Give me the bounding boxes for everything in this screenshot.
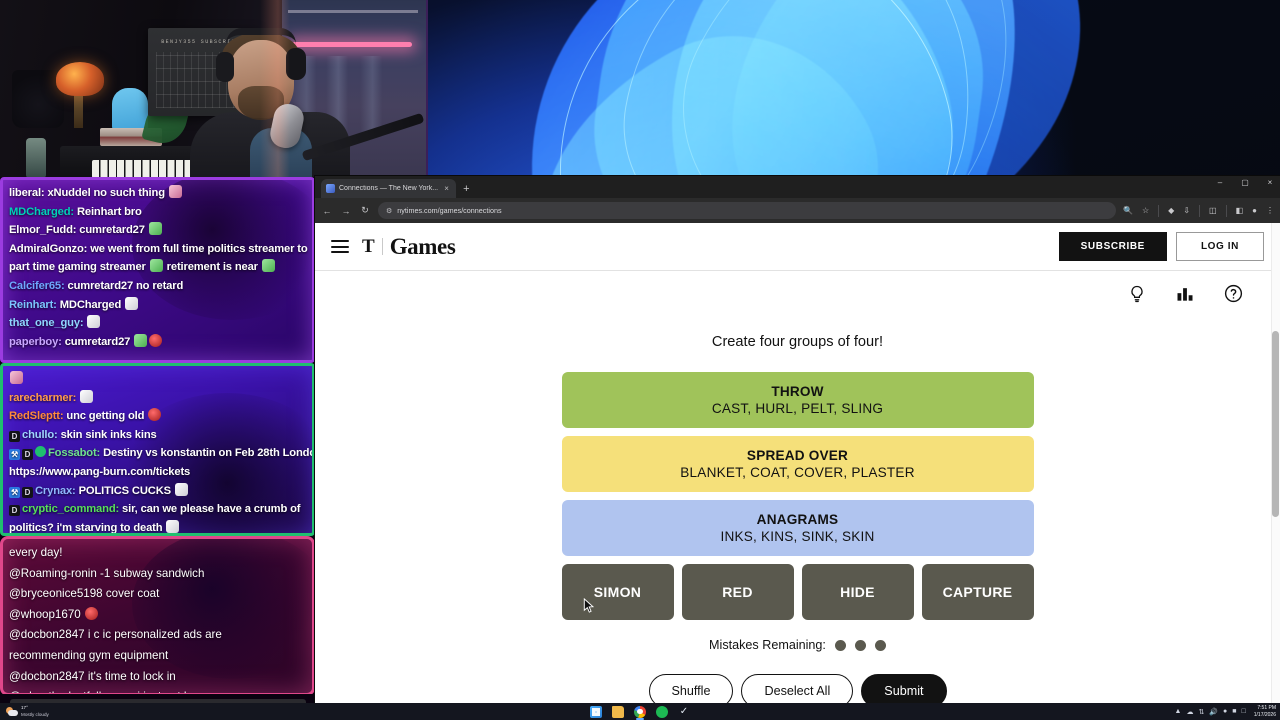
window-controls: – ▢ × <box>1214 178 1276 187</box>
system-tray: ▲ ☁ ⇅ 🔊 ● ■ □ 7:51 PM 1/17/2026 <box>1175 705 1276 718</box>
chat-emote-icon <box>87 315 100 328</box>
solved-group-category: THROW <box>771 384 823 399</box>
browser-tab-strip: Connections — The New York... × + – ▢ × <box>315 176 1280 198</box>
checkmark-icon[interactable]: ✓ <box>678 706 690 718</box>
onedrive-icon[interactable]: ☁ <box>1186 708 1193 716</box>
twitch-chat-column: liberal: xNuddel no such thing MDCharged… <box>0 177 315 720</box>
solved-group: SPREAD OVERBLANKET, COAT, COVER, PLASTER <box>562 436 1034 492</box>
chat-message: https://www.pang-burn.com/tickets <box>9 463 306 482</box>
solved-group: THROWCAST, HURL, PELT, SLING <box>562 372 1034 428</box>
reload-icon[interactable]: ↻ <box>359 205 371 216</box>
bluetooth-icon[interactable]: ⇅ <box>1198 708 1204 716</box>
chat-message: part time gaming streamer retirement is … <box>9 258 306 277</box>
subscriber-badge-icon: D <box>9 431 20 442</box>
address-bar-url: nytimes.com/games/connections <box>397 206 501 215</box>
chat-message: rarecharmer: <box>9 389 306 408</box>
mistake-dot <box>855 640 866 651</box>
chat-message: that_one_guy: <box>9 314 306 333</box>
mod-badge-icon: ⚒ <box>9 487 20 498</box>
game-tile-simon[interactable]: SIMON <box>562 564 674 620</box>
verified-badge-icon <box>35 446 46 457</box>
solved-group-members: CAST, HURL, PELT, SLING <box>712 401 883 416</box>
subscriber-badge-icon: D <box>9 505 20 516</box>
network-icon[interactable]: ● <box>1223 708 1227 715</box>
chat-emote-icon <box>125 297 138 310</box>
chat-username[interactable]: liberal: <box>9 187 47 199</box>
tune-icon: ⚙ <box>386 207 392 215</box>
mistake-dot <box>875 640 886 651</box>
chat-emote-icon <box>149 334 162 347</box>
tile-row: SIMONREDHIDECAPTURE <box>562 564 1034 620</box>
subscriber-badge-icon: D <box>22 449 33 460</box>
maximize-icon[interactable]: ▢ <box>1239 178 1251 187</box>
chat-emote-icon <box>262 259 275 272</box>
solved-group: ANAGRAMSINKS, KINS, SINK, SKIN <box>562 500 1034 556</box>
chat-username[interactable]: Calcifer65: <box>9 280 68 292</box>
folder-icon[interactable] <box>612 706 624 718</box>
action-center-icon[interactable]: □ <box>1242 708 1246 715</box>
mistake-dot <box>835 640 846 651</box>
solved-group-category: ANAGRAMS <box>757 512 839 527</box>
chat-message: @docbon2847 it's time to lock in <box>9 667 306 688</box>
windows-start-icon[interactable] <box>590 706 602 718</box>
connections-game: Create four groups of four! THROWCAST, H… <box>315 316 1280 703</box>
solved-group-members: BLANKET, COAT, COVER, PLASTER <box>680 465 914 480</box>
chrome-browser-window: Connections — The New York... × + – ▢ × … <box>315 176 1280 703</box>
menu-icon[interactable]: ⋮ <box>1266 206 1274 215</box>
solved-group-category: SPREAD OVER <box>747 448 848 463</box>
chat-emote-icon <box>80 390 93 403</box>
spotify-icon[interactable] <box>656 706 668 718</box>
nyt-favicon <box>326 184 335 193</box>
game-instruction: Create four groups of four! <box>315 334 1280 350</box>
page-scrollbar[interactable] <box>1271 223 1280 703</box>
chat-emote-icon <box>148 408 161 421</box>
close-window-icon[interactable]: × <box>1264 178 1276 187</box>
chat-message: Reinhart: MDCharged <box>9 296 306 315</box>
solved-group-members: INKS, KINS, SINK, SKIN <box>721 529 875 544</box>
chat-message: @whoop1670 <box>9 605 306 626</box>
chat-emote-icon <box>175 483 188 496</box>
bookmark-star-icon[interactable]: ☆ <box>1142 206 1149 215</box>
chat-message: @docbon2847 i c ic personalized ads are <box>9 625 306 646</box>
chat-username[interactable]: Fossabot: <box>48 447 103 459</box>
chat-username[interactable]: paperboy: <box>9 336 65 348</box>
downloads-icon[interactable]: ⇩ <box>1183 206 1190 215</box>
chat-emote-icon <box>169 185 182 198</box>
hamburger-menu-icon[interactable] <box>331 240 349 253</box>
volume-icon[interactable]: 🔊 <box>1209 708 1218 716</box>
chat-message: Dcryptic_command: sir, can we please hav… <box>9 500 306 519</box>
extensions-icon[interactable]: ◆ <box>1168 206 1174 215</box>
chat-message: every day! <box>9 543 306 564</box>
nyt-games-header: T Games SUBSCRIBE LOG IN <box>315 223 1280 270</box>
connections-board: THROWCAST, HURL, PELT, SLINGSPREAD OVERB… <box>562 372 1034 620</box>
profile-icon[interactable]: ● <box>1252 206 1257 215</box>
game-actions: Shuffle Deselect All Submit <box>315 674 1280 703</box>
browser-tab-connections[interactable]: Connections — The New York... × <box>321 179 456 198</box>
chat-emote-icon <box>149 222 162 235</box>
chat-message: MDCharged: Reinhart bro <box>9 203 306 222</box>
chat-message: Elmor_Fudd: cumretard27 <box>9 221 306 240</box>
chat-username[interactable]: AdmiralGonzo: <box>9 243 90 255</box>
help-question-icon[interactable] <box>1222 283 1244 305</box>
zoom-icon[interactable]: 🔍 <box>1123 206 1133 215</box>
chat-username[interactable]: that_one_guy: <box>9 317 86 329</box>
weather-widget[interactable]: 17° Mostly cloudy <box>0 705 120 717</box>
browser-viewport: T Games SUBSCRIBE LOG IN <box>315 223 1280 703</box>
stats-bar-chart-icon[interactable] <box>1174 283 1196 305</box>
chat-panel-middle[interactable]: rarecharmer: RedSleptt: unc getting old … <box>0 363 315 536</box>
log-in-button[interactable]: LOG IN <box>1176 232 1264 261</box>
chat-username[interactable]: cryptic_command: <box>22 503 122 515</box>
chat-message: Dchullo: skin sink inks kins <box>9 426 306 445</box>
mistakes-remaining: Mistakes Remaining: <box>315 638 1280 652</box>
tab-title: Connections — The New York... <box>339 185 438 192</box>
chat-username[interactable]: chullo: <box>22 429 61 441</box>
weather-cloud-icon <box>6 707 18 717</box>
game-toolbar <box>315 271 1280 316</box>
stained-glass-lamp <box>56 62 104 96</box>
chat-username[interactable]: RedSleptt: <box>9 410 66 422</box>
nyt-t-logo-icon: T <box>362 237 375 256</box>
minimize-icon[interactable]: – <box>1214 178 1226 187</box>
taskbar-clock[interactable]: 7:51 PM 1/17/2026 <box>1254 705 1276 718</box>
chat-username[interactable]: rarecharmer: <box>9 392 79 404</box>
taskbar-app-icons: ✓ <box>590 706 690 718</box>
weather-condition: Mostly cloudy <box>21 712 49 718</box>
browser-toolbar: ← → ↻ ⚙ nytimes.com/games/connections 🔍 … <box>315 198 1280 223</box>
chat-username[interactable]: Crynax: <box>35 485 79 497</box>
shuffle-button[interactable]: Shuffle <box>649 674 734 703</box>
chat-emote-icon <box>150 259 163 272</box>
screen-root: BENJY355 SUBSCRIBED liberal: xNuddel no … <box>0 0 1280 720</box>
chat-message: ⚒DCrynax: POLITICS CUCKS <box>9 482 306 501</box>
chat-username[interactable]: Elmor_Fudd: <box>9 224 79 236</box>
scrollbar-thumb[interactable] <box>1272 331 1279 517</box>
deselect-all-button[interactable]: Deselect All <box>741 674 853 703</box>
battery-icon[interactable]: ■ <box>1232 708 1236 715</box>
mistakes-label: Mistakes Remaining: <box>709 638 826 652</box>
subscriber-badge-icon: D <box>22 487 33 498</box>
chat-emote-icon <box>134 334 147 347</box>
windows-taskbar: 17° Mostly cloudy ✓ ▲ ☁ ⇅ 🔊 ● ■ □ 7:51 P… <box>0 703 1280 720</box>
streamer-webcam: BENJY355 SUBSCRIBED <box>0 0 428 177</box>
games-wordmark: Games <box>390 235 456 258</box>
chat-username[interactable]: MDCharged: <box>9 206 77 218</box>
subscribe-button[interactable]: SUBSCRIBE <box>1059 232 1167 261</box>
mod-badge-icon: ⚒ <box>9 449 20 460</box>
address-bar[interactable]: ⚙ nytimes.com/games/connections <box>378 202 1116 219</box>
chat-message: liberal: xNuddel no such thing <box>9 184 306 203</box>
chat-emote-icon <box>166 520 179 533</box>
game-tile-capture[interactable]: CAPTURE <box>922 564 1034 620</box>
chrome-icon[interactable] <box>634 706 646 718</box>
chat-message: ⚒DFossabot: Destiny vs konstantin on Feb… <box>9 444 306 463</box>
sidebar-icon[interactable]: ◧ <box>1236 206 1244 215</box>
back-icon[interactable]: ← <box>321 206 333 216</box>
chat-message: AdmiralGonzo: we went from full time pol… <box>9 240 306 259</box>
chat-emote-icon <box>10 371 23 384</box>
submit-button[interactable]: Submit <box>861 674 946 703</box>
tray-overflow-icon[interactable]: ▲ <box>1175 708 1182 715</box>
toolbar-right-icons: 🔍 ☆ ◆ ⇩ ◫ ◧ ● ⋮ <box>1123 205 1274 217</box>
chat-message: RedSleptt: unc getting old <box>9 407 306 426</box>
chat-message: Calcifer65: cumretard27 no retard <box>9 277 306 296</box>
forward-icon[interactable]: → <box>340 206 352 216</box>
chat-message <box>9 370 306 389</box>
chat-emote-icon <box>85 607 98 620</box>
split-screen-icon[interactable]: ◫ <box>1209 206 1217 215</box>
chat-message: politics? i'm starving to death <box>9 519 306 536</box>
chat-panel-top[interactable]: liberal: xNuddel no such thing MDCharged… <box>0 177 315 363</box>
new-tab-button[interactable]: + <box>463 183 469 195</box>
close-icon[interactable]: × <box>442 184 451 193</box>
nyt-games-logo[interactable]: T Games <box>362 235 455 258</box>
game-tile-hide[interactable]: HIDE <box>802 564 914 620</box>
chat-message: paperboy: cumretard27 <box>9 333 306 352</box>
chat-message: @Roaming-ronin -1 subway sandwich <box>9 564 306 585</box>
chat-panel-bottom[interactable]: every day! @Roaming-ronin -1 subway sand… <box>0 536 315 696</box>
chat-message: recommending gym equipment <box>9 646 306 667</box>
game-tile-red[interactable]: RED <box>682 564 794 620</box>
chat-username[interactable]: Reinhart: <box>9 299 60 311</box>
hint-bulb-icon[interactable] <box>1126 283 1148 305</box>
chat-message: @bryceonice5198 cover coat <box>9 584 306 605</box>
clock-date: 1/17/2026 <box>1254 712 1276 718</box>
